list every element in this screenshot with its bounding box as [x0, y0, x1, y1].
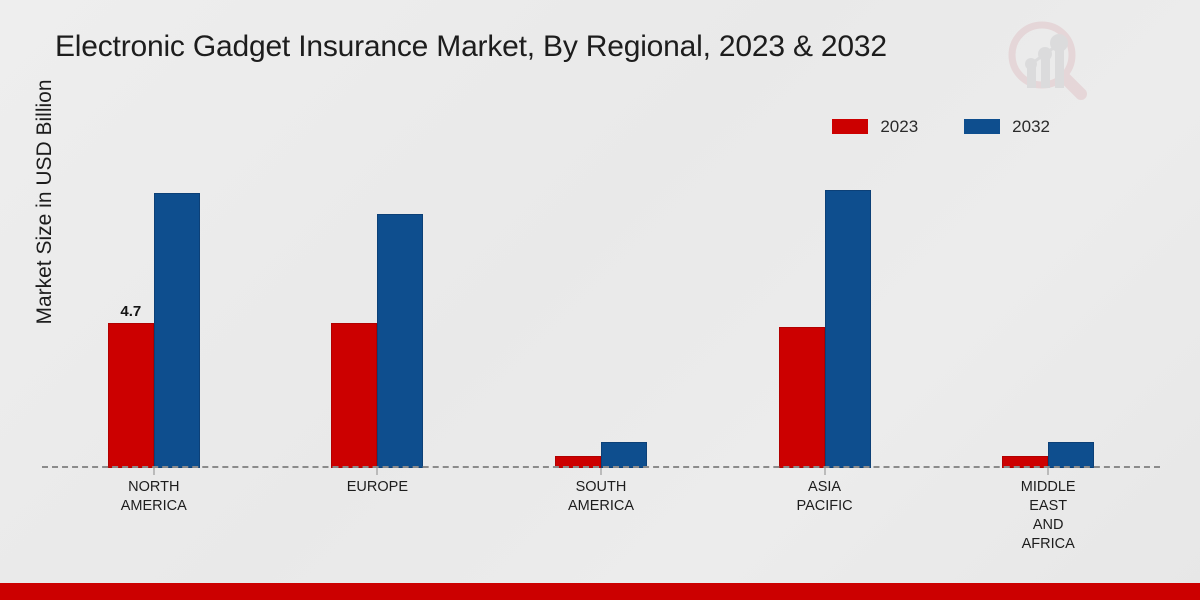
bar-2032[interactable] [601, 442, 647, 468]
bar-2032[interactable] [1048, 442, 1094, 468]
x-axis-label-line: AFRICA [936, 535, 1160, 554]
x-axis-label-line: EUROPE [266, 478, 490, 497]
x-axis-label: MIDDLEEASTANDAFRICA [936, 478, 1160, 555]
legend-item-2023[interactable]: 2023 [832, 118, 918, 135]
footer-accent-bar [0, 583, 1200, 600]
bar-2032[interactable] [825, 190, 871, 468]
x-axis-label: ASIAPACIFIC [713, 478, 937, 555]
bar-group: 4.7 [42, 171, 266, 468]
x-axis-tick [153, 468, 154, 475]
x-axis-label-line: SOUTH [489, 478, 713, 497]
x-axis-label-line: AMERICA [489, 497, 713, 516]
bar-2023[interactable] [779, 327, 825, 468]
x-axis-label: NORTHAMERICA [42, 478, 266, 555]
x-axis-label: EUROPE [266, 478, 490, 555]
x-axis-label-line: EAST [936, 497, 1160, 516]
bar-group [713, 171, 937, 468]
bar-2032[interactable] [154, 193, 200, 468]
bar-value-label: 4.7 [120, 303, 141, 320]
bar-groups: 4.7 [42, 171, 1160, 468]
x-axis-category-labels: NORTHAMERICAEUROPESOUTHAMERICAASIAPACIFI… [42, 478, 1160, 555]
bar-group [489, 171, 713, 468]
bar-2032[interactable] [377, 214, 423, 468]
legend-swatch-2032 [964, 119, 1000, 134]
legend-item-2032[interactable]: 2032 [964, 118, 1050, 135]
x-axis-label-line: ASIA [713, 478, 937, 497]
bar-2023[interactable]: 4.7 [108, 323, 154, 468]
x-axis-baseline [42, 466, 1160, 468]
x-axis-label-line: AND [936, 516, 1160, 535]
bar-group [936, 171, 1160, 468]
legend-label-2023: 2023 [880, 118, 918, 135]
x-axis-tick [377, 468, 378, 475]
x-axis-label-line: AMERICA [42, 497, 266, 516]
legend-label-2032: 2032 [1012, 118, 1050, 135]
chart-legend: 2023 2032 [832, 118, 1050, 135]
x-axis-label-line: PACIFIC [713, 497, 937, 516]
x-axis-label-line: NORTH [42, 478, 266, 497]
x-axis-label-line: MIDDLE [936, 478, 1160, 497]
chart-title: Electronic Gadget Insurance Market, By R… [55, 30, 1055, 64]
x-axis-tick [824, 468, 825, 475]
chart-container: Electronic Gadget Insurance Market, By R… [0, 0, 1200, 600]
plot-area: 4.7 [42, 170, 1160, 468]
x-axis-label: SOUTHAMERICA [489, 478, 713, 555]
bar-2023[interactable] [331, 323, 377, 468]
x-axis-tick [1048, 468, 1049, 475]
legend-swatch-2023 [832, 119, 868, 134]
x-axis-tick [600, 468, 601, 475]
bar-group [266, 171, 490, 468]
